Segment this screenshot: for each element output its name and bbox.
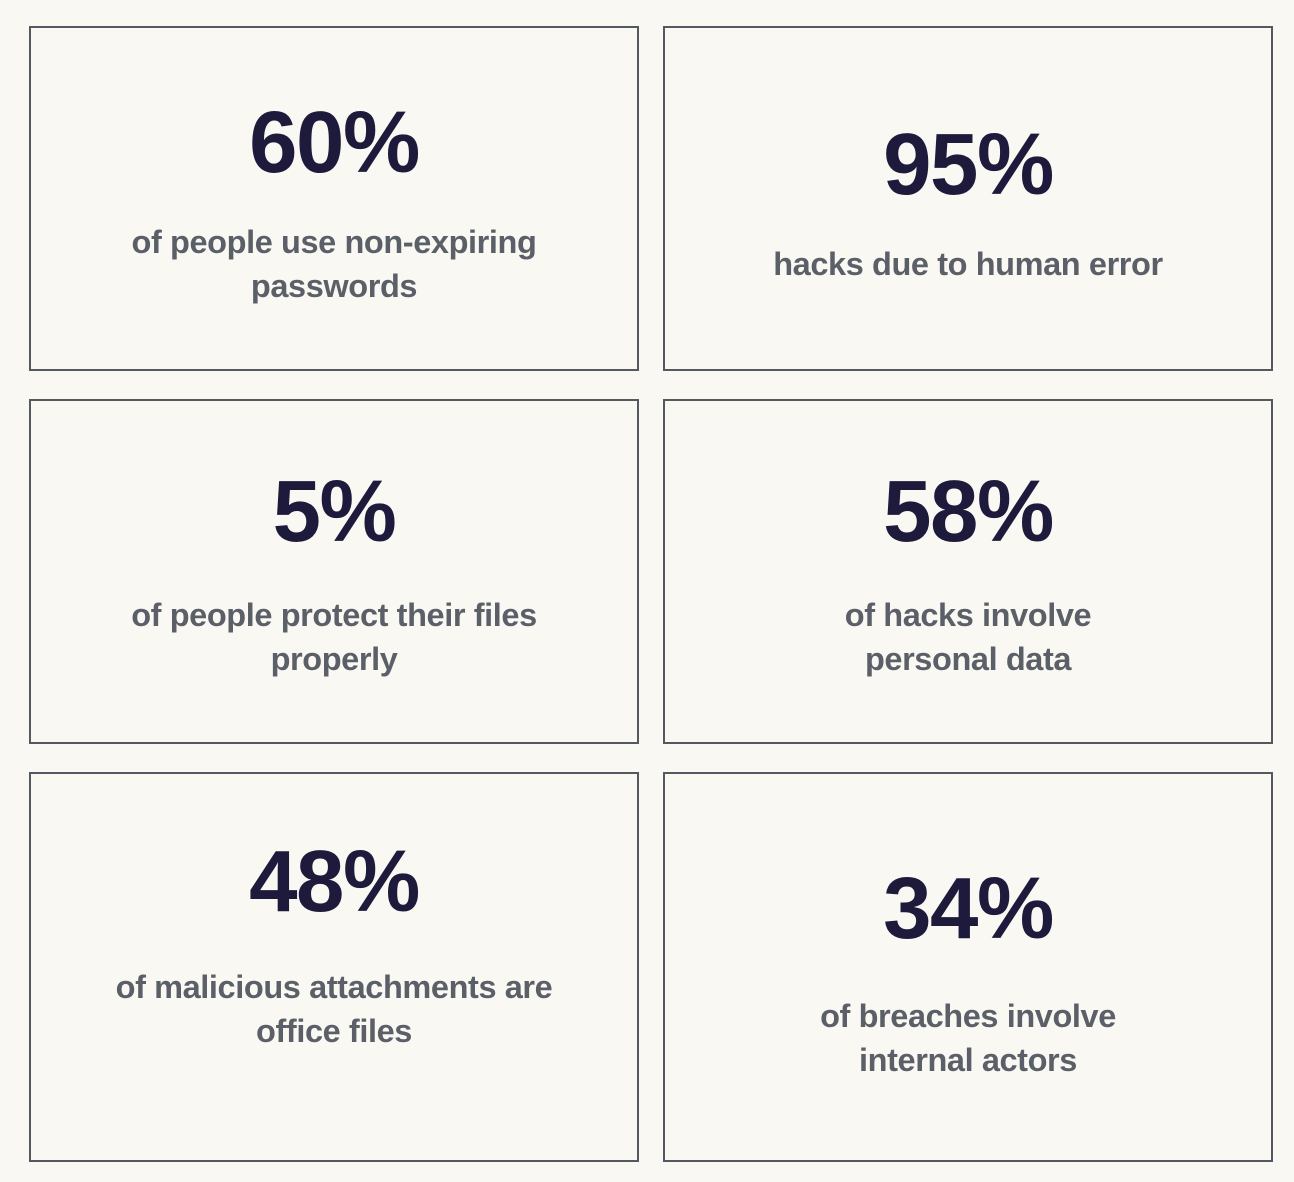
stat-caption: of people use non-expiring passwords [124,220,544,308]
stat-card-files-protected-properly: 5% of people protect their files properl… [29,399,639,744]
stat-value: 60% [249,99,419,186]
stat-value: 95% [883,121,1053,208]
stat-value: 58% [883,468,1053,555]
stat-caption: of breaches involve internal actors [768,994,1168,1082]
stat-caption: of people protect their files properly [114,593,554,681]
stat-value: 34% [883,865,1053,952]
stat-caption: of malicious attachments are office file… [114,965,554,1053]
stat-card-non-expiring-passwords: 60% of people use non-expiring passwords [29,26,639,371]
stat-caption: hacks due to human error [773,242,1163,286]
stat-caption: of hacks involve personal data [803,593,1133,681]
stat-value: 5% [273,468,396,555]
stats-grid: 60% of people use non-expiring passwords… [29,26,1273,1161]
stat-card-malicious-office-attachments: 48% of malicious attachments are office … [29,772,639,1162]
stat-card-breaches-internal-actors: 34% of breaches involve internal actors [663,772,1273,1162]
stat-card-hacks-personal-data: 58% of hacks involve personal data [663,399,1273,744]
stat-card-human-error-hacks: 95% hacks due to human error [663,26,1273,371]
stat-value: 48% [249,838,419,925]
